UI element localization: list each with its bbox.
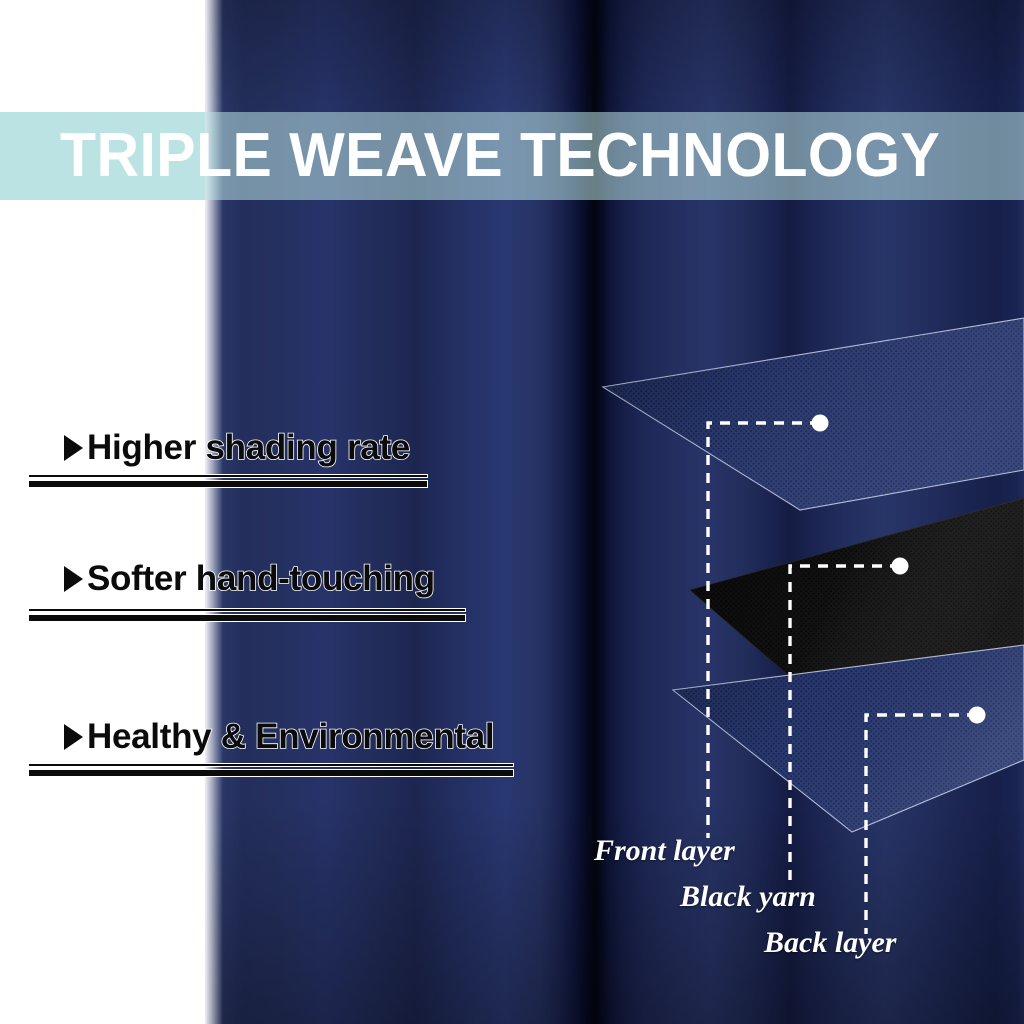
rule-thick [28, 480, 428, 488]
triangle-right-icon [64, 566, 83, 592]
title-banner: TRIPLE WEAVE TECHNOLOGY [0, 112, 1024, 200]
feature-item-2: Softer hand-touching [64, 556, 435, 602]
feature-item-1: Higher shading rate [64, 425, 410, 471]
triangle-right-icon [64, 724, 83, 750]
rule-thick [28, 614, 466, 622]
feature-item-3: Healthy & Environmental [64, 714, 494, 760]
label-front-layer: Front layer [594, 834, 735, 868]
feature-rule-3 [28, 763, 514, 777]
rule-thin [28, 474, 428, 478]
feature-label-2: Softer hand-touching [87, 559, 435, 599]
feature-label-1: Higher shading rate [87, 428, 410, 468]
product-infographic: TRIPLE WEAVE TECHNOLOGY Higher shading r… [0, 0, 1024, 1024]
rule-thin [28, 608, 466, 612]
feature-rule-1 [28, 474, 428, 488]
label-black-yarn: Black yarn [680, 880, 816, 914]
rule-thin [28, 763, 514, 767]
label-back-layer: Back layer [764, 926, 896, 960]
rule-thick [28, 769, 514, 777]
feature-rule-2 [28, 608, 466, 622]
triangle-right-icon [64, 435, 83, 461]
feature-label-3: Healthy & Environmental [87, 717, 494, 757]
page-title: TRIPLE WEAVE TECHNOLOGY [60, 112, 940, 200]
